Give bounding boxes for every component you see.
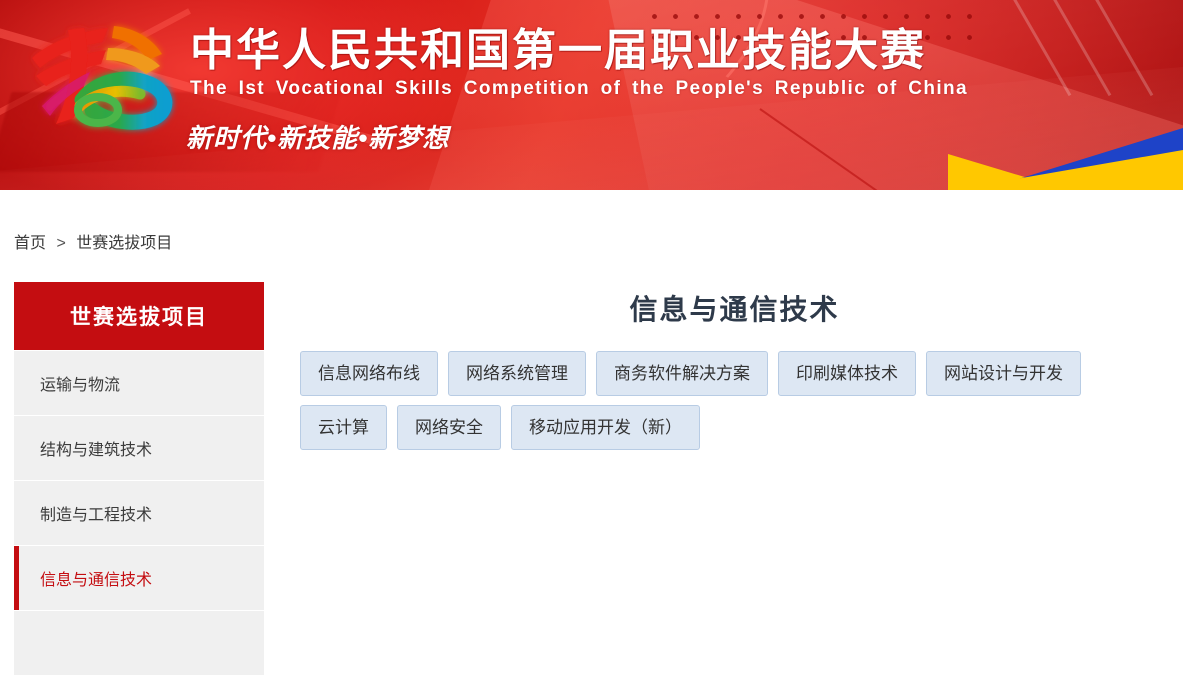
banner-subtitle: The Ist Vocational Skills Competition of…: [190, 78, 968, 100]
sidebar-item-label: 制造与工程技术: [40, 501, 152, 525]
sidebar-item-manufacturing-engineering[interactable]: 制造与工程技术: [14, 481, 264, 545]
skill-tag-list: 信息网络布线 网络系统管理 商务软件解决方案 印刷媒体技术 网站设计与开发 云计…: [300, 351, 1169, 450]
sidebar: 世赛选拔项目 运输与物流 结构与建筑技术 制造与工程技术 信息与通信技术: [14, 282, 264, 675]
sidebar-item-information-communication[interactable]: 信息与通信技术: [14, 546, 264, 610]
sidebar-item-next-partial[interactable]: [14, 611, 264, 675]
sidebar-item-construction-building[interactable]: 结构与建筑技术: [14, 416, 264, 480]
skill-tag-it-network-systems-administration[interactable]: 网络系统管理: [448, 351, 586, 396]
skill-tag-cloud-computing[interactable]: 云计算: [300, 405, 387, 450]
sidebar-item-label: 结构与建筑技术: [40, 436, 152, 460]
breadcrumb-current-link[interactable]: 世赛选拔项目: [76, 235, 172, 252]
skill-tag-print-media-technology[interactable]: 印刷媒体技术: [778, 351, 916, 396]
sidebar-heading: 世赛选拔项目: [14, 282, 264, 350]
site-banner: 中华人民共和国第一届职业技能大赛 The Ist Vocational Skil…: [0, 0, 1183, 190]
breadcrumb-separator: >: [56, 235, 65, 252]
competition-emblem-icon: [22, 14, 182, 138]
skill-tag-it-software-solutions-for-business[interactable]: 商务软件解决方案: [596, 351, 768, 396]
skill-tag-mobile-applications-development[interactable]: 移动应用开发（新）: [511, 405, 700, 450]
sidebar-item-transport-logistics[interactable]: 运输与物流: [14, 351, 264, 415]
breadcrumb: 首页 > 世赛选拔项目: [14, 229, 172, 253]
page-title: 信息与通信技术: [300, 286, 1169, 329]
banner-yellow-triangle: [953, 150, 1183, 190]
sidebar-item-label: 信息与通信技术: [40, 566, 152, 590]
page-content: 世赛选拔项目 运输与物流 结构与建筑技术 制造与工程技术 信息与通信技术 信息与…: [0, 282, 1183, 612]
banner-title: 中华人民共和国第一届职业技能大赛: [190, 25, 926, 77]
banner-slogan: 新时代•新技能•新梦想: [186, 118, 449, 155]
breadcrumb-home-link[interactable]: 首页: [14, 235, 46, 252]
skill-tag-cyber-security[interactable]: 网络安全: [397, 405, 501, 450]
sidebar-item-label: 运输与物流: [40, 371, 120, 395]
skill-tag-network-cabling[interactable]: 信息网络布线: [300, 351, 438, 396]
main-panel: 信息与通信技术 信息网络布线 网络系统管理 商务软件解决方案 印刷媒体技术 网站…: [300, 282, 1169, 450]
skill-tag-web-technologies[interactable]: 网站设计与开发: [926, 351, 1081, 396]
